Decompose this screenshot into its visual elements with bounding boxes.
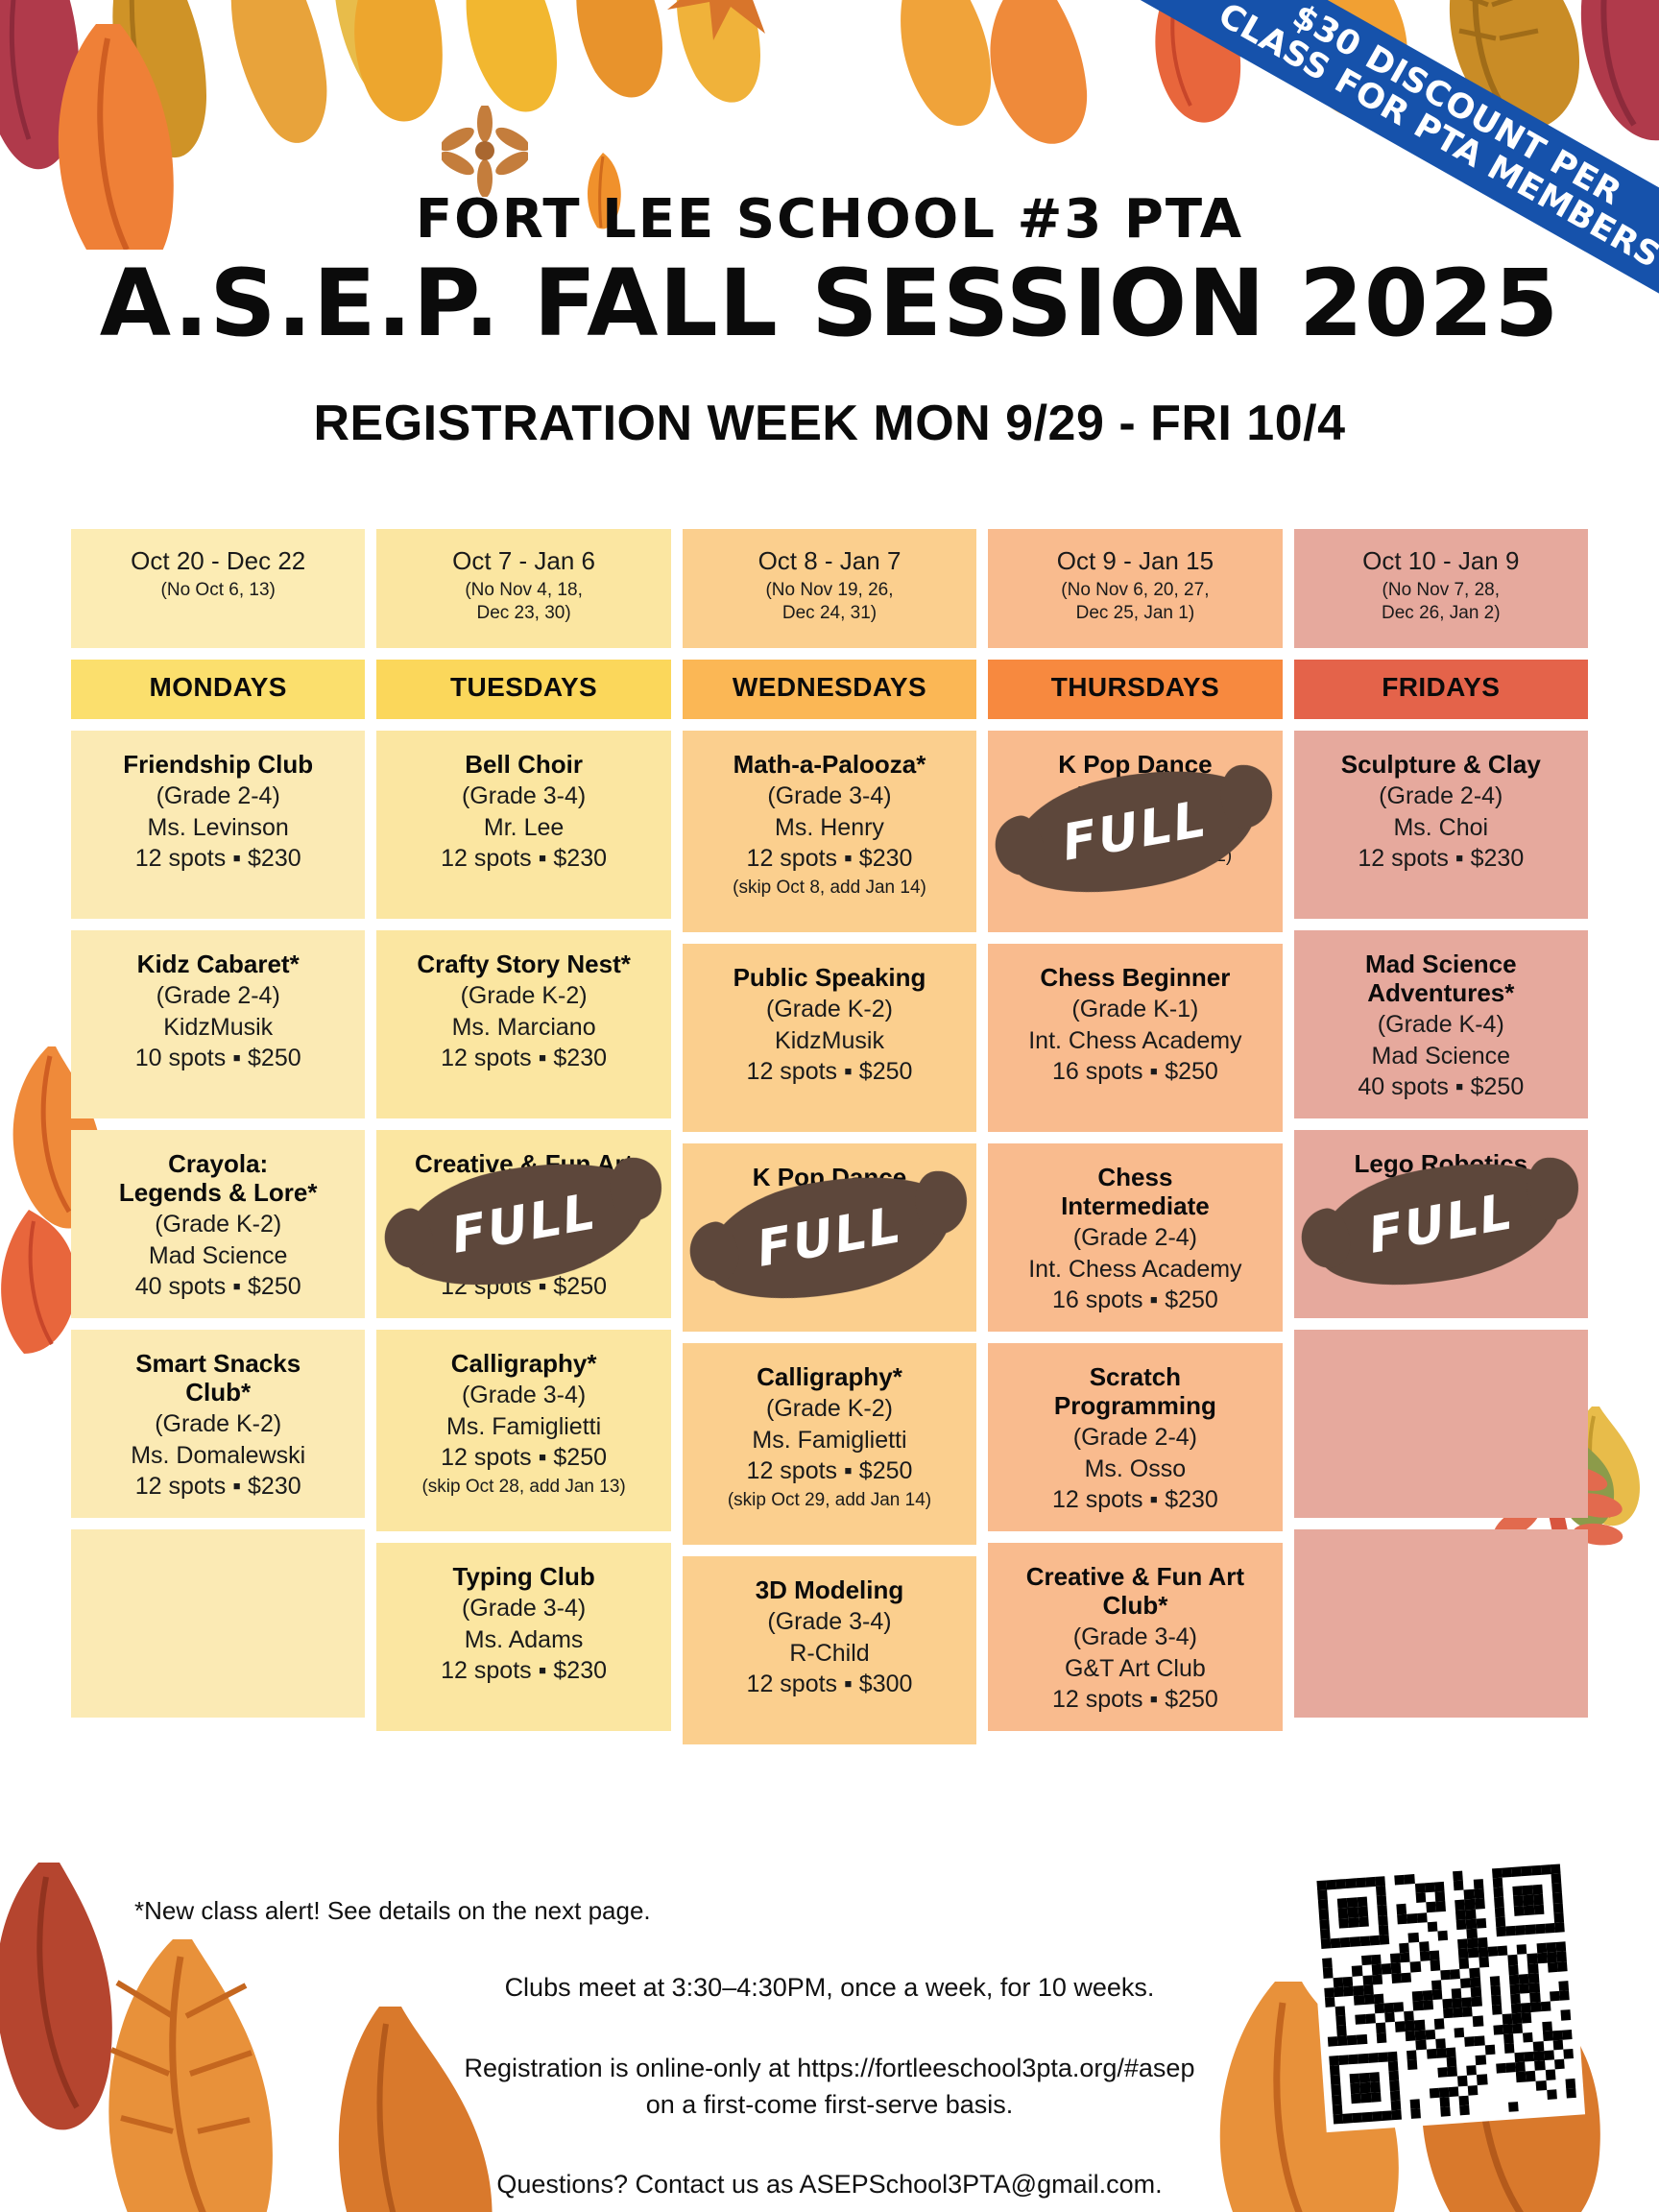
- class-name: Lego Robotics: [1355, 1149, 1528, 1178]
- class-spots-price: 12 spots ▪ $250: [1052, 1684, 1218, 1716]
- qr-module: [1459, 2104, 1470, 2115]
- class-name: Creative & Fun Art Club*: [1026, 1562, 1244, 1620]
- date-range-main: Oct 8 - Jan 7: [690, 546, 969, 576]
- day-column-tuesdays: Oct 7 - Jan 6(No Nov 4, 18, Dec 23, 30)T…: [376, 529, 670, 1744]
- class-provider: Ms. Domalewski: [131, 1440, 305, 1472]
- class-name: Typing Club: [452, 1562, 594, 1591]
- class-name: Math-a-Palooza*: [733, 750, 926, 779]
- class-grade: (Grade 3-4): [462, 1209, 586, 1240]
- class-cell[interactable]: Crafty Story Nest*(Grade K-2)Ms. Marcian…: [376, 930, 670, 1118]
- class-schedule-note: (skip Oct 28, add Jan 13): [421, 1476, 625, 1499]
- class-name: K Pop Dance: [753, 1163, 906, 1191]
- class-cell[interactable]: Public Speaking(Grade K-2)KidzMusik12 sp…: [683, 944, 976, 1132]
- flyer-page: $30 DISCOUNT PER CLASS FOR PTA MEMBERS F…: [0, 0, 1659, 2212]
- org-name: FORT LEE SCHOOL #3 PTA: [0, 188, 1659, 251]
- header: FORT LEE SCHOOL #3 PTA A.S.E.P. FALL SES…: [0, 188, 1659, 452]
- class-grade: (Grade K-2): [766, 1393, 893, 1425]
- class-cell[interactable]: Creative & Fun Art Club*(Grade 3-4)G&T A…: [376, 1130, 670, 1318]
- class-provider: G&T Art Club: [453, 1240, 594, 1272]
- class-provider: Ms. Levinson: [148, 812, 289, 844]
- class-cell[interactable]: Math-a-Palooza*(Grade 3-4)Ms. Henry12 sp…: [683, 731, 976, 932]
- qr-module: [1421, 2107, 1431, 2118]
- qr-module: [1362, 2112, 1373, 2123]
- class-spots-price: 12 spots ▪ $300: [747, 1669, 913, 1700]
- class-cell[interactable]: Typing Club(Grade 3-4)Ms. Adams12 spots …: [376, 1543, 670, 1731]
- class-name: Scratch Programming: [1054, 1362, 1216, 1420]
- class-grade: (Grade 2-4): [156, 781, 280, 812]
- day-column-thursdays: Oct 9 - Jan 15(No Nov 6, 20, 27, Dec 25,…: [988, 529, 1282, 1744]
- qr-module: [1401, 2109, 1411, 2120]
- day-header-thursdays: THURSDAYS: [988, 660, 1282, 719]
- class-cell[interactable]: Chess Intermediate(Grade 2-4)Int. Chess …: [988, 1143, 1282, 1332]
- class-cell[interactable]: Calligraphy*(Grade 3-4)Ms. Famiglietti12…: [376, 1330, 670, 1531]
- day-header-tuesdays: TUESDAYS: [376, 660, 670, 719]
- class-provider: Int. Chess Academy: [1028, 1254, 1241, 1286]
- class-name: Creative & Fun Art Club*: [415, 1149, 633, 1207]
- class-spots-price: 12 spots ▪ $230: [441, 1655, 607, 1687]
- star-anise-icon: [442, 106, 528, 197]
- qr-module: [1353, 2112, 1363, 2123]
- class-name: Calligraphy*: [757, 1362, 902, 1391]
- class-provider: Ms. Famiglietti: [752, 1425, 906, 1456]
- class-cell[interactable]: Bell Choir(Grade 3-4)Mr. Lee12 spots ▪ $…: [376, 731, 670, 919]
- class-cell[interactable]: Chess Beginner(Grade K-1)Int. Chess Acad…: [988, 944, 1282, 1132]
- class-grade: (Grade 2-4): [1073, 1222, 1197, 1254]
- qr-module: [1489, 2103, 1500, 2113]
- class-cell[interactable]: Calligraphy*(Grade K-2)Ms. Famiglietti12…: [683, 1343, 976, 1545]
- class-name: Sculpture & Clay: [1341, 750, 1541, 779]
- qr-module: [1372, 2111, 1382, 2122]
- class-cell[interactable]: K Pop Dance(Grade 2-4)12 spots ▪ $250(sk…: [988, 731, 1282, 932]
- leaf-cluster-top-center: [317, 0, 816, 173]
- empty-class-cell: [71, 1529, 365, 1718]
- empty-class-cell: [1294, 1529, 1588, 1718]
- registration-week: REGISTRATION WEEK MON 9/29 - FRI 10/4: [0, 395, 1659, 452]
- class-spots-price: 12 spots ▪ $230: [441, 843, 607, 875]
- class-spots-price: 12 spots ▪ $230: [1052, 1484, 1218, 1516]
- date-range-cell: Oct 8 - Jan 7(No Nov 19, 26, Dec 24, 31): [683, 529, 976, 648]
- class-grade: (Grade K-4): [1378, 1009, 1504, 1041]
- class-spots-price: 40 spots ▪ $250: [135, 1271, 301, 1303]
- qr-module: [1431, 2107, 1441, 2118]
- class-spots-price: 12 spots ▪ $230: [135, 843, 301, 875]
- empty-class-cell: [1294, 1330, 1588, 1518]
- class-cell[interactable]: 3D Modeling(Grade 3-4)R-Child12 spots ▪ …: [683, 1556, 976, 1744]
- qr-module: [1450, 2105, 1460, 2116]
- qr-module: [1547, 2099, 1557, 2109]
- qr-module: [1469, 2104, 1479, 2115]
- date-range-cell: Oct 10 - Jan 9(No Nov 7, 28, Dec 26, Jan…: [1294, 529, 1588, 648]
- class-provider: KidzMusik: [775, 1025, 884, 1057]
- date-range-exclusions: (No Nov 7, 28, Dec 26, Jan 2): [1302, 579, 1580, 625]
- class-grade: (Grade K-2): [155, 1209, 281, 1240]
- class-grade: (Grade 2-4): [1379, 1180, 1503, 1212]
- class-grade: (Grade 3-4): [767, 1606, 891, 1638]
- class-name: Mad Science Adventures*: [1365, 950, 1517, 1007]
- date-range-exclusions: (No Nov 4, 18, Dec 23, 30): [384, 579, 662, 625]
- date-range-exclusions: (No Nov 6, 20, 27, Dec 25, Jan 1): [996, 579, 1274, 625]
- class-spots-price: 40 spots ▪ $250: [1358, 1071, 1524, 1103]
- qr-module: [1537, 2100, 1548, 2110]
- class-spots-price: 12 spots ▪ $230: [1358, 843, 1524, 875]
- qr-module: [1567, 2098, 1577, 2108]
- date-range-main: Oct 7 - Jan 6: [384, 546, 662, 576]
- qr-module: [1333, 2114, 1343, 2125]
- qr-module: [1391, 2109, 1402, 2120]
- class-schedule-note: (skip Oct 8, add Jan 14): [733, 877, 926, 900]
- class-provider: G&T Art Club: [1065, 1653, 1206, 1685]
- date-range-exclusions: (No Nov 19, 26, Dec 24, 31): [690, 579, 969, 625]
- class-cell[interactable]: Scratch Programming(Grade 2-4)Ms. Osso12…: [988, 1343, 1282, 1531]
- class-grade: (Grade 2-4): [1073, 1422, 1197, 1454]
- class-grade: (Grade 3-4): [462, 781, 586, 812]
- class-schedule-note: (skip Oct 29, add Jan 14): [728, 1489, 931, 1512]
- qr-module: [1343, 2113, 1354, 2124]
- qr-module: [1479, 2104, 1489, 2114]
- class-cell[interactable]: Lego Robotics(Grade 2-4)12 spots ▪ $300F…: [1294, 1130, 1588, 1318]
- class-spots-price: 12 spots ▪ $250: [747, 1056, 913, 1088]
- date-range-cell: Oct 7 - Jan 6(No Nov 4, 18, Dec 23, 30): [376, 529, 670, 648]
- class-provider: Ms. Osso: [1085, 1454, 1187, 1485]
- class-provider: Ms. Marciano: [452, 1012, 596, 1044]
- class-name: Friendship Club: [123, 750, 313, 779]
- qr-code[interactable]: [1309, 1856, 1585, 2132]
- class-spots-price: 12 spots ▪ $230: [441, 1043, 607, 1074]
- class-cell[interactable]: Smart Snacks Club*(Grade K-2)Ms. Domalew…: [71, 1330, 365, 1518]
- class-schedule-note: (skip Oct 9, add Jan 22): [1039, 845, 1233, 868]
- class-cell[interactable]: Friendship Club(Grade 2-4)Ms. Levinson12…: [71, 731, 365, 919]
- qr-module: [1499, 2103, 1509, 2113]
- class-provider: KidzMusik: [163, 1012, 273, 1044]
- class-provider: Ms. Henry: [775, 812, 884, 844]
- class-provider: Int. Chess Academy: [1028, 1025, 1241, 1057]
- day-column-mondays: Oct 20 - Dec 22(No Oct 6, 13)MONDAYSFrie…: [71, 529, 365, 1744]
- class-name: Crafty Story Nest*: [417, 950, 631, 978]
- class-spots-price: 12 spots ▪ $250: [1052, 812, 1218, 844]
- class-cell[interactable]: Crayola: Legends & Lore*(Grade K-2)Mad S…: [71, 1130, 365, 1318]
- qr-module: [1382, 2110, 1392, 2121]
- class-name: Smart Snacks Club*: [135, 1349, 301, 1407]
- class-grade: (Grade 2-4): [1073, 781, 1197, 812]
- date-range-cell: Oct 9 - Jan 15(No Nov 6, 20, 27, Dec 25,…: [988, 529, 1282, 648]
- class-cell[interactable]: Creative & Fun Art Club*(Grade 3-4)G&T A…: [988, 1543, 1282, 1731]
- qr-module: [1508, 2102, 1519, 2112]
- class-provider: Ms. Adams: [465, 1624, 584, 1656]
- qr-module: [1527, 2101, 1538, 2111]
- class-name: Crayola: Legends & Lore*: [119, 1149, 318, 1207]
- date-range-main: Oct 20 - Dec 22: [79, 546, 357, 576]
- class-provider: Mad Science: [149, 1240, 288, 1272]
- class-spots-price: 12 spots ▪ $230: [747, 843, 913, 875]
- day-header-wednesdays: WEDNESDAYS: [683, 660, 976, 719]
- qr-module: [1440, 2106, 1451, 2117]
- qr-module: [1518, 2101, 1528, 2111]
- class-provider: Ms. Choi: [1393, 812, 1488, 844]
- class-name: K Pop Dance: [1058, 750, 1212, 779]
- class-cell[interactable]: K Pop Dance(Grade 2-4)12 spots ▪ $250FUL…: [683, 1143, 976, 1332]
- class-cell[interactable]: Mad Science Adventures*(Grade K-4)Mad Sc…: [1294, 930, 1588, 1118]
- qr-module: [1411, 2108, 1422, 2119]
- class-name: Bell Choir: [465, 750, 583, 779]
- class-grade: (Grade K-2): [155, 1408, 281, 1440]
- class-spots-price: 12 spots ▪ $300: [1358, 1212, 1524, 1243]
- class-cell[interactable]: Kidz Cabaret*(Grade 2-4)KidzMusik10 spot…: [71, 930, 365, 1118]
- class-name: Public Speaking: [733, 963, 926, 992]
- class-provider: Mr. Lee: [484, 812, 564, 844]
- class-spots-price: 16 spots ▪ $250: [1052, 1285, 1218, 1316]
- class-schedule-grid: Oct 20 - Dec 22(No Oct 6, 13)MONDAYSFrie…: [71, 529, 1588, 1744]
- class-spots-price: 12 spots ▪ $250: [747, 1225, 913, 1257]
- class-name: Calligraphy*: [451, 1349, 597, 1378]
- class-spots-price: 10 spots ▪ $250: [135, 1043, 301, 1074]
- qr-module: [1557, 2098, 1568, 2108]
- class-grade: (Grade 3-4): [462, 1380, 586, 1411]
- day-header-fridays: FRIDAYS: [1294, 660, 1588, 719]
- class-grade: (Grade 2-4): [156, 980, 280, 1012]
- class-grade: (Grade K-2): [461, 980, 588, 1012]
- class-provider: Mad Science: [1372, 1041, 1511, 1072]
- class-grade: (Grade 2-4): [767, 1193, 891, 1225]
- class-grade: (Grade K-1): [1071, 994, 1198, 1025]
- class-grade: (Grade 3-4): [767, 781, 891, 812]
- class-cell[interactable]: Sculpture & Clay(Grade 2-4)Ms. Choi12 sp…: [1294, 731, 1588, 919]
- day-column-fridays: Oct 10 - Jan 9(No Nov 7, 28, Dec 26, Jan…: [1294, 529, 1588, 1744]
- class-grade: (Grade 3-4): [1073, 1622, 1197, 1653]
- day-header-mondays: MONDAYS: [71, 660, 365, 719]
- class-name: Chess Intermediate: [1061, 1163, 1210, 1220]
- class-grade: (Grade 2-4): [1379, 781, 1503, 812]
- class-name: Kidz Cabaret*: [137, 950, 300, 978]
- day-column-wednesdays: Oct 8 - Jan 7(No Nov 19, 26, Dec 24, 31)…: [683, 529, 976, 1744]
- class-spots-price: 12 spots ▪ $250: [747, 1455, 913, 1487]
- class-name: Chess Beginner: [1040, 963, 1230, 992]
- date-range-exclusions: (No Oct 6, 13): [79, 579, 357, 602]
- class-spots-price: 16 spots ▪ $250: [1052, 1056, 1218, 1088]
- class-provider: R-Child: [789, 1638, 869, 1670]
- class-grade: (Grade K-2): [766, 994, 893, 1025]
- contact-info: Questions? Contact us as ASEPSchool3PTA@…: [0, 2167, 1659, 2203]
- date-range-cell: Oct 20 - Dec 22(No Oct 6, 13): [71, 529, 365, 648]
- class-name: 3D Modeling: [756, 1575, 904, 1604]
- class-grade: (Grade 3-4): [462, 1593, 586, 1624]
- class-provider: Ms. Famiglietti: [446, 1411, 601, 1443]
- date-range-main: Oct 9 - Jan 15: [996, 546, 1274, 576]
- page-title: A.S.E.P. FALL SESSION 2025: [0, 254, 1659, 354]
- class-spots-price: 12 spots ▪ $230: [135, 1471, 301, 1503]
- class-spots-price: 12 spots ▪ $250: [441, 1271, 607, 1303]
- class-spots-price: 12 spots ▪ $250: [441, 1442, 607, 1474]
- date-range-main: Oct 10 - Jan 9: [1302, 546, 1580, 576]
